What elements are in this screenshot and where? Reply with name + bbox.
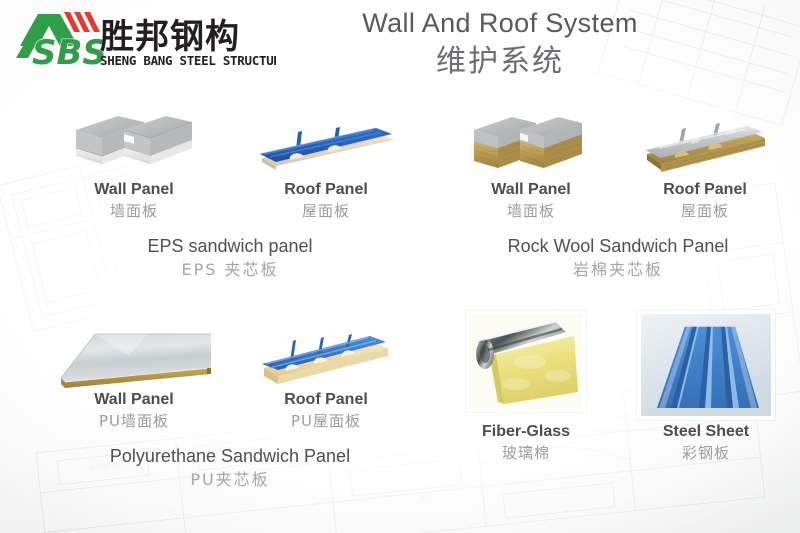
product-group-pu: Wall Panel PU墙面板 (38, 318, 422, 492)
product-label-en: Fiber-Glass (436, 422, 616, 442)
product-rockwool-wall-panel[interactable]: Wall Panel 墙面板 (444, 104, 618, 222)
product-label-cn: 墙面板 (444, 200, 618, 222)
svg-text:SBS: SBS (32, 33, 107, 72)
product-label-cn: 墙面板 (38, 200, 230, 222)
product-group-materials: Fiber-Glass 玻璃棉 (436, 310, 796, 464)
svg-text:胜邦钢构: 胜邦钢构 (100, 17, 240, 57)
group-title-en: Polyurethane Sandwich Panel (38, 444, 422, 468)
rockwool-wall-panel-image (468, 110, 594, 180)
group-title-en: Rock Wool Sandwich Panel (444, 234, 792, 258)
product-fiber-glass[interactable]: Fiber-Glass 玻璃棉 (436, 310, 616, 464)
page-title: Wall And Roof System 维护系统 (300, 6, 700, 82)
group-title-en: EPS sandwich panel (38, 234, 422, 258)
product-label-cn: 玻璃棉 (436, 442, 616, 464)
product-label-en: Wall Panel (444, 180, 618, 200)
group-title-rockwool: Rock Wool Sandwich Panel 岩棉夹芯板 (444, 234, 792, 282)
product-eps-wall-panel[interactable]: Wall Panel 墙面板 (38, 104, 230, 222)
product-label-cn: 屋面板 (230, 200, 422, 222)
product-pu-roof-panel[interactable]: Roof Panel PU屋面板 (230, 318, 422, 432)
title-chinese: 维护系统 (300, 42, 700, 82)
product-label-en: Roof Panel (230, 180, 422, 200)
group-title-pu: Polyurethane Sandwich Panel PU夹芯板 (38, 444, 422, 492)
product-group-rockwool: Wall Panel 墙面板 (444, 104, 792, 282)
group-title-cn: EPS 夹芯板 (38, 258, 422, 282)
product-pu-wall-panel[interactable]: Wall Panel PU墙面板 (38, 318, 230, 432)
group-title-cn: PU夹芯板 (38, 468, 422, 492)
product-group-eps: Wall Panel 墙面板 (38, 104, 422, 282)
group-title-eps: EPS sandwich panel EPS 夹芯板 (38, 234, 422, 282)
company-logo: SBS 胜邦钢构 SHENG BANG STEEL STRUCTURE (8, 6, 276, 72)
steel-sheet-photo-frame (637, 310, 775, 420)
steel-sheet-image (641, 314, 771, 416)
eps-wall-panel-image (66, 108, 202, 180)
title-english: Wall And Roof System (300, 6, 700, 40)
product-label-cn: 彩钢板 (616, 442, 796, 464)
fiber-glass-photo-frame (466, 310, 586, 412)
product-steel-sheet[interactable]: Steel Sheet 彩钢板 (616, 310, 796, 464)
product-label-en: Steel Sheet (616, 422, 796, 442)
product-label-cn: PU墙面板 (38, 410, 230, 432)
group-title-cn: 岩棉夹芯板 (444, 258, 792, 282)
product-label-cn: 屋面板 (618, 200, 792, 222)
product-rockwool-roof-panel[interactable]: Roof Panel 屋面板 (618, 104, 792, 222)
product-label-en: Roof Panel (230, 390, 422, 410)
slide-canvas: GARAGE 18'-0" BEDROOM LIVING C-8 SCALE 1… (0, 0, 800, 533)
fiber-glass-roll-image (470, 314, 582, 408)
product-eps-roof-panel[interactable]: Roof Panel 屋面板 (230, 104, 422, 222)
product-label-en: Wall Panel (38, 180, 230, 200)
eps-roof-panel-image (256, 118, 396, 180)
svg-text:A-2: A-2 (419, 494, 430, 502)
rockwool-roof-panel-image (639, 114, 771, 180)
pu-wall-panel-image (51, 322, 217, 390)
product-label-en: Wall Panel (38, 390, 230, 410)
svg-text:SHENG BANG STEEL STRUCTURE: SHENG BANG STEEL STRUCTURE (100, 53, 276, 68)
product-label-en: Roof Panel (618, 180, 792, 200)
product-label-cn: PU屋面板 (230, 410, 422, 432)
pu-roof-panel-image (260, 328, 392, 390)
